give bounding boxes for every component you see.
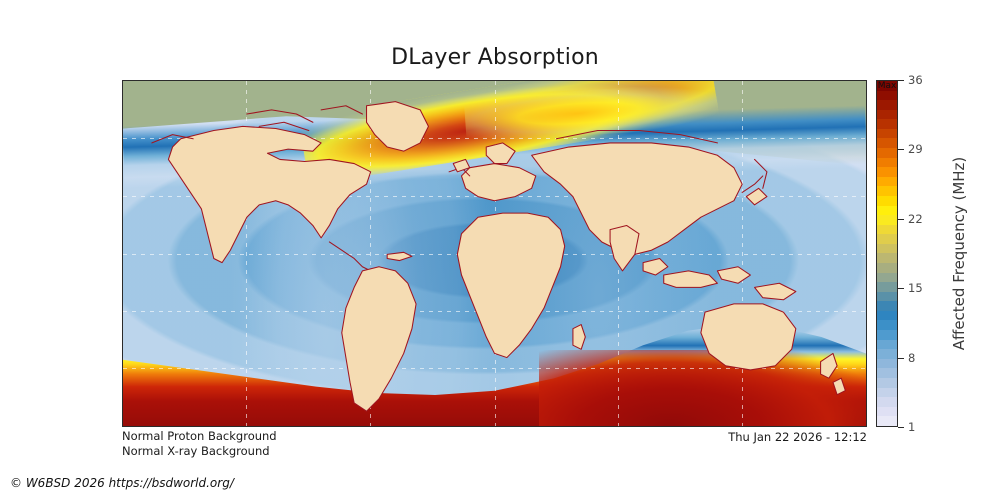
colorbar-band <box>877 186 897 196</box>
colorbar-title-wrap: Affected Frequency (MHz) <box>948 80 970 427</box>
timestamp-label: Thu Jan 22 2026 - 12:12 <box>722 430 867 444</box>
page-title: DLayer Absorption <box>0 45 990 70</box>
colorbar-band <box>877 100 897 110</box>
colorbar-tick-label: 15 <box>908 281 923 295</box>
colorbar-band <box>877 397 897 407</box>
colorbar-tick-mark <box>898 358 904 359</box>
colorbar-tick-mark <box>898 149 904 150</box>
colorbar-band <box>877 119 897 129</box>
colorbar-band <box>877 206 897 216</box>
colorbar-band <box>877 215 897 225</box>
colorbar-band <box>877 301 897 311</box>
colorbar-tick-label: 29 <box>908 142 923 156</box>
colorbar-band <box>877 416 897 426</box>
colorbar-band <box>877 129 897 139</box>
coastlines <box>123 81 866 427</box>
colorbar-gradient <box>876 80 898 427</box>
background-status: Normal Proton Background Normal X-ray Ba… <box>122 429 277 459</box>
continent-outlines <box>123 102 866 427</box>
colorbar-band <box>877 340 897 350</box>
colorbar-tick-mark <box>898 427 904 428</box>
colorbar-band <box>877 234 897 244</box>
colorbar-band <box>877 320 897 330</box>
copyright-footer: © W6BSD 2026 https://bsdworld.org/ <box>10 476 234 490</box>
colorbar-band <box>877 263 897 273</box>
colorbar-band <box>877 311 897 321</box>
colorbar-band <box>877 273 897 283</box>
colorbar-band <box>877 225 897 235</box>
colorbar-band <box>877 407 897 417</box>
colorbar-band <box>877 253 897 263</box>
colorbar-title: Affected Frequency (MHz) <box>948 80 970 427</box>
dlayer-absorption-figure: DLayer Absorption <box>0 0 1000 500</box>
colorbar-band <box>877 378 897 388</box>
colorbar-band <box>877 167 897 177</box>
colorbar-tick-label: 1 <box>908 420 915 434</box>
colorbar-tick-label: 8 <box>908 351 915 365</box>
colorbar-band <box>877 91 897 101</box>
colorbar-band <box>877 148 897 158</box>
colorbar-band <box>877 349 897 359</box>
colorbar-band <box>877 196 897 206</box>
colorbar-band <box>877 244 897 254</box>
colorbar-tick-mark <box>898 219 904 220</box>
colorbar-tick-label: 36 <box>908 73 923 87</box>
colorbar-tick-mark <box>898 288 904 289</box>
world-absorption-map <box>122 80 867 427</box>
colorbar-band <box>877 330 897 340</box>
colorbar-band <box>877 110 897 120</box>
colorbar-tick-mark <box>898 80 904 81</box>
colorbar-band <box>877 177 897 187</box>
colorbar-band <box>877 359 897 369</box>
colorbar-max-label: Max <box>877 81 897 91</box>
colorbar-tick-label: 22 <box>908 212 923 226</box>
colorbar-band <box>877 158 897 168</box>
xray-background-label: Normal X-ray Background <box>122 444 277 459</box>
colorbar-band <box>877 138 897 148</box>
colorbar-band <box>877 282 897 292</box>
colorbar-band <box>877 368 897 378</box>
proton-background-label: Normal Proton Background <box>122 429 277 444</box>
colorbar-band <box>877 388 897 398</box>
colorbar: Max <box>876 80 898 427</box>
colorbar-band <box>877 292 897 302</box>
